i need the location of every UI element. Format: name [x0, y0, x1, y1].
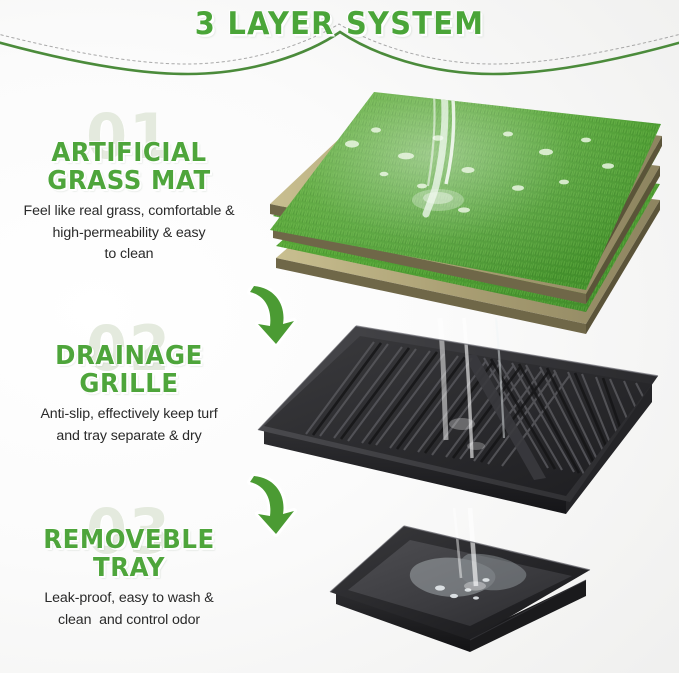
artificial-grass-mat-image	[256, 82, 676, 342]
heading-line: ARTIFICIAL	[8, 140, 251, 168]
section-drainage-grille: DRAINAGE GRILLE Anti-slip, effectively k…	[0, 343, 258, 447]
drainage-grille-image	[248, 318, 678, 533]
section-heading-03: REMOVEBLE TRAY	[8, 527, 251, 582]
heading-line: GRASS MAT	[8, 168, 251, 196]
body-line: Anti-slip, effectively keep turf	[8, 404, 250, 426]
heading-line: DRAINAGE	[8, 343, 251, 371]
body-line: high-permeability & easy	[8, 223, 250, 245]
body-line: and tray separate & dry	[8, 426, 250, 448]
heading-line: TRAY	[8, 555, 251, 583]
section-body-01: Feel like real grass, comfortable & high…	[0, 201, 258, 266]
heading-line: REMOVEBLE	[8, 527, 251, 555]
section-body-03: Leak-proof, easy to wash & clean and con…	[0, 588, 258, 631]
body-line: Leak-proof, easy to wash &	[8, 588, 250, 610]
page-title: 3 LAYER SYSTEM	[24, 6, 655, 42]
section-removable-tray: REMOVEBLE TRAY Leak-proof, easy to wash …	[0, 527, 258, 631]
section-artificial-grass-mat: ARTIFICIAL GRASS MAT Feel like real gras…	[0, 140, 258, 266]
removable-tray-image	[318, 518, 618, 668]
section-heading-01: ARTIFICIAL GRASS MAT	[8, 140, 251, 195]
body-line: clean and control odor	[8, 610, 250, 632]
section-heading-02: DRAINAGE GRILLE	[8, 343, 251, 398]
infographic-canvas: 3 LAYER SYSTEM	[0, 0, 679, 673]
heading-line: GRILLE	[8, 371, 251, 399]
body-line: to clean	[8, 244, 250, 266]
section-body-02: Anti-slip, effectively keep turf and tra…	[0, 404, 258, 447]
body-line: Feel like real grass, comfortable &	[8, 201, 250, 223]
